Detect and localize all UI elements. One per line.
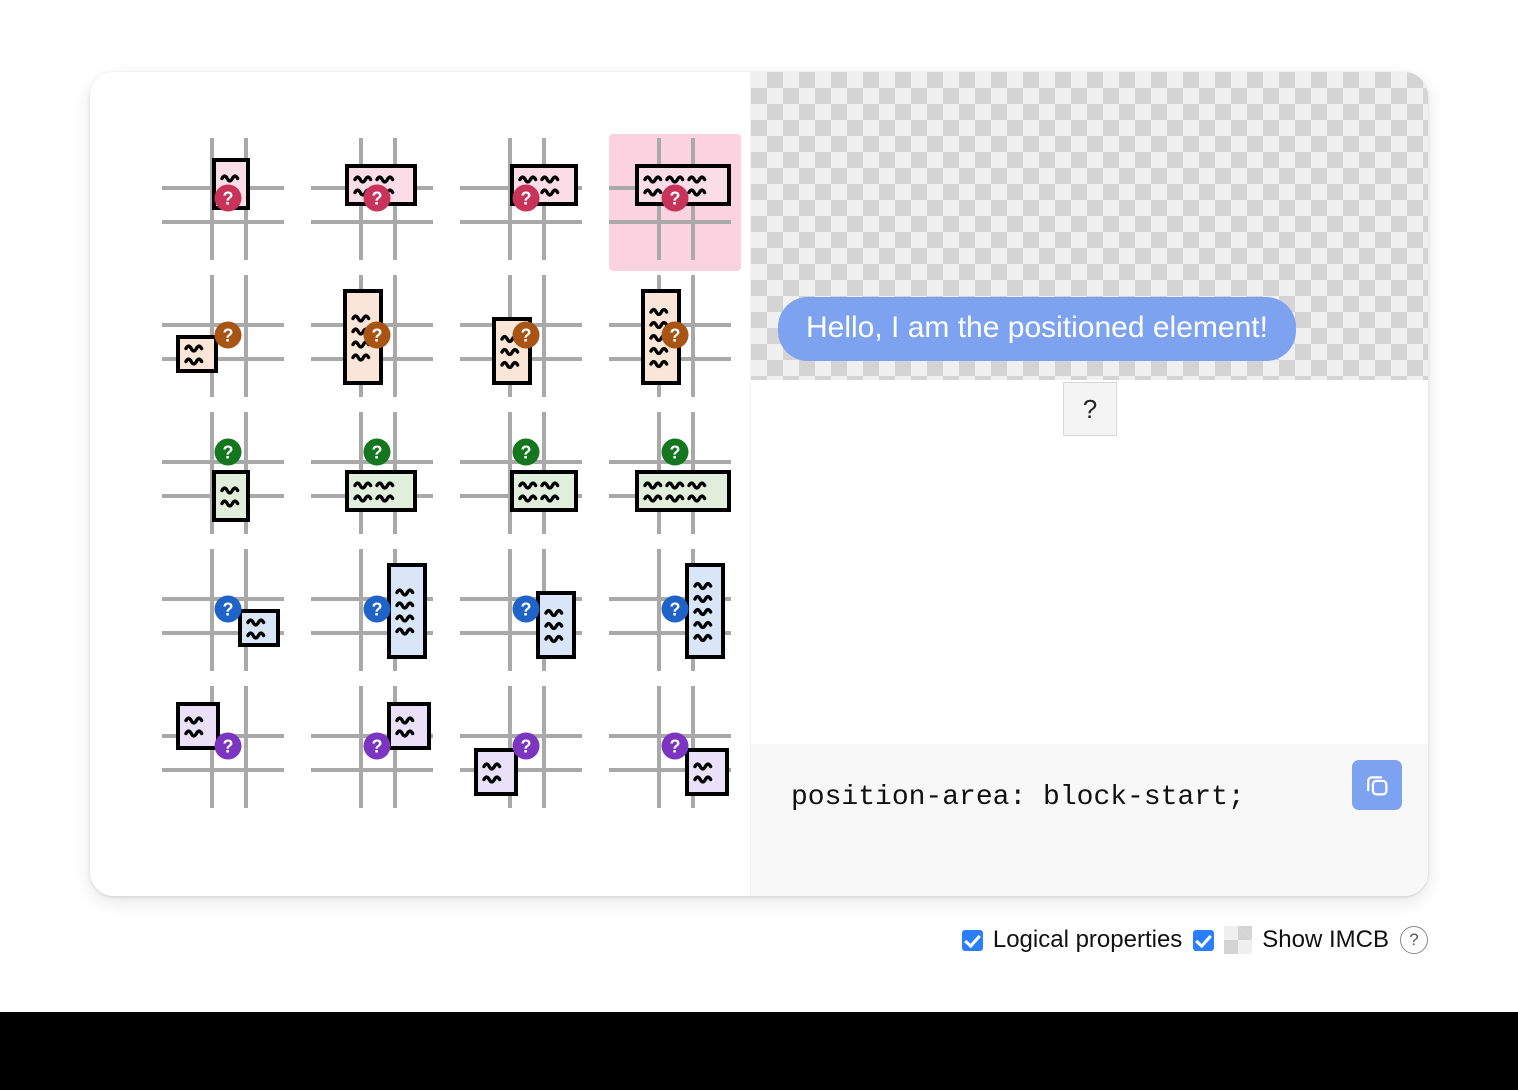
- copy-button[interactable]: [1352, 760, 1402, 810]
- position-area-diagram: ?: [311, 408, 443, 545]
- logical-properties-label: Logical properties: [993, 926, 1182, 954]
- position-area-diagram: ?: [460, 682, 592, 819]
- position-area-diagram: ?: [609, 134, 741, 271]
- position-area-diagram: ?: [311, 134, 443, 271]
- svg-text:?: ?: [521, 600, 532, 620]
- svg-text:?: ?: [521, 189, 532, 209]
- preview-pane: Hello, I am the positioned element! ? po…: [751, 72, 1428, 896]
- picker-pane: ????????????????????: [90, 72, 751, 896]
- position-area-diagram: ?: [460, 545, 592, 682]
- picker-cell[interactable]: ?: [609, 271, 741, 408]
- picker-cell[interactable]: ?: [460, 134, 592, 271]
- position-area-picker[interactable]: ????????????????????: [162, 134, 741, 819]
- picker-cell[interactable]: ?: [311, 682, 443, 819]
- position-area-diagram: ?: [609, 545, 741, 682]
- svg-text:?: ?: [372, 443, 383, 463]
- picker-cell[interactable]: ?: [162, 271, 294, 408]
- picker-cell[interactable]: ?: [311, 545, 443, 682]
- svg-text:?: ?: [670, 600, 681, 620]
- svg-text:?: ?: [223, 443, 234, 463]
- position-area-diagram: ?: [609, 682, 741, 819]
- svg-text:?: ?: [670, 189, 681, 209]
- picker-cell[interactable]: ?: [162, 408, 294, 545]
- footer-controls: Logical properties Show IMCB ?: [0, 926, 1428, 954]
- screen-bottom-bar: [0, 1012, 1518, 1090]
- anchor-element: ?: [1063, 382, 1117, 436]
- position-area-diagram: ?: [460, 271, 592, 408]
- show-imcb-label: Show IMCB: [1262, 926, 1389, 954]
- svg-text:?: ?: [670, 326, 681, 346]
- picker-cell[interactable]: ?: [162, 682, 294, 819]
- position-area-diagram: ?: [311, 271, 443, 408]
- checkerboard-swatch-icon: [1224, 926, 1252, 954]
- picker-cell[interactable]: ?: [311, 134, 443, 271]
- picker-cell[interactable]: ?: [311, 408, 443, 545]
- picker-cell[interactable]: ?: [609, 134, 741, 271]
- show-imcb-checkbox[interactable]: [1193, 930, 1214, 951]
- picker-cell[interactable]: ?: [609, 545, 741, 682]
- svg-text:?: ?: [372, 326, 383, 346]
- position-area-diagram: ?: [460, 134, 592, 271]
- code-panel: position-area: block-start;: [751, 744, 1428, 896]
- position-area-diagram: ?: [609, 271, 741, 408]
- svg-text:?: ?: [670, 737, 681, 757]
- position-area-diagram: ?: [162, 271, 294, 408]
- preview-canvas: Hello, I am the positioned element!: [751, 72, 1428, 380]
- position-area-diagram: ?: [311, 682, 443, 819]
- positioned-element: Hello, I am the positioned element!: [778, 297, 1296, 361]
- picker-cell[interactable]: ?: [311, 271, 443, 408]
- svg-text:?: ?: [670, 443, 681, 463]
- svg-text:?: ?: [372, 600, 383, 620]
- svg-text:?: ?: [372, 189, 383, 209]
- svg-text:?: ?: [521, 737, 532, 757]
- position-area-diagram: ?: [311, 545, 443, 682]
- svg-text:?: ?: [521, 326, 532, 346]
- position-area-card: ???????????????????? Hello, I am the pos…: [90, 72, 1428, 896]
- copy-icon: [1363, 771, 1391, 799]
- help-icon[interactable]: ?: [1400, 926, 1428, 954]
- position-area-diagram: ?: [162, 545, 294, 682]
- picker-cell[interactable]: ?: [460, 271, 592, 408]
- svg-text:?: ?: [223, 737, 234, 757]
- svg-text:?: ?: [223, 189, 234, 209]
- picker-cell[interactable]: ?: [460, 408, 592, 545]
- logical-properties-control[interactable]: Logical properties: [962, 926, 1182, 954]
- picker-cell[interactable]: ?: [162, 134, 294, 271]
- css-declaration: position-area: block-start;: [791, 782, 1245, 813]
- show-imcb-control[interactable]: Show IMCB: [1193, 926, 1389, 954]
- picker-cell[interactable]: ?: [460, 545, 592, 682]
- logical-properties-checkbox[interactable]: [962, 930, 983, 951]
- svg-text:?: ?: [223, 600, 234, 620]
- svg-text:?: ?: [521, 443, 532, 463]
- position-area-diagram: ?: [460, 408, 592, 545]
- picker-cell[interactable]: ?: [460, 682, 592, 819]
- position-area-diagram: ?: [609, 408, 741, 545]
- picker-cell[interactable]: ?: [609, 408, 741, 545]
- position-area-diagram: ?: [162, 682, 294, 819]
- svg-text:?: ?: [223, 326, 234, 346]
- svg-text:?: ?: [372, 737, 383, 757]
- position-area-diagram: ?: [162, 134, 294, 271]
- picker-cell[interactable]: ?: [162, 545, 294, 682]
- picker-cell[interactable]: ?: [609, 682, 741, 819]
- position-area-diagram: ?: [162, 408, 294, 545]
